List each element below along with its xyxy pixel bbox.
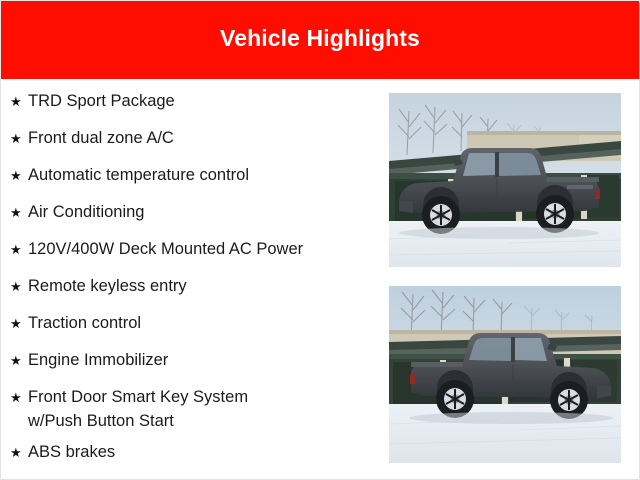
star-bullet-icon: ★ <box>10 89 28 114</box>
list-item: ★ Traction control <box>1 311 379 348</box>
star-bullet-icon: ★ <box>10 348 28 373</box>
star-bullet-icon: ★ <box>10 385 28 410</box>
feature-label: Automatic temperature control <box>28 163 379 187</box>
star-bullet-icon: ★ <box>10 440 28 465</box>
star-bullet-icon: ★ <box>10 126 28 151</box>
header-banner: Vehicle Highlights <box>0 0 640 79</box>
list-item: ★ Front dual zone A/C <box>1 126 379 163</box>
feature-label: 120V/400W Deck Mounted AC Power <box>28 237 379 261</box>
list-item: ★ Front Door Smart Key System w/Push But… <box>1 385 379 440</box>
star-bullet-icon: ★ <box>10 274 28 299</box>
list-item: ★ 120V/400W Deck Mounted AC Power <box>1 237 379 274</box>
list-item: ★ ABS brakes <box>1 440 379 477</box>
vehicle-photo-passenger-side-image <box>389 286 621 463</box>
vehicle-features-list: ★ TRD Sport Package ★ Front dual zone A/… <box>1 80 379 480</box>
list-item: ★ Air Conditioning <box>1 200 379 237</box>
list-item: ★ Remote keyless entry <box>1 274 379 311</box>
feature-label: Traction control <box>28 311 379 335</box>
vehicle-highlights-card: Vehicle Highlights ★ TRD Sport Package ★… <box>0 0 640 480</box>
vehicle-photo-driver-side <box>389 93 621 267</box>
feature-label: Front dual zone A/C <box>28 126 379 150</box>
star-bullet-icon: ★ <box>10 163 28 188</box>
vehicle-photo-passenger-side <box>389 286 621 463</box>
feature-label: Engine Immobilizer <box>28 348 379 372</box>
star-bullet-icon: ★ <box>10 311 28 336</box>
vehicle-photo-driver-side-image <box>389 93 621 267</box>
feature-label: Remote keyless entry <box>28 274 379 298</box>
feature-label: Front Door Smart Key System w/Push Butto… <box>28 385 379 433</box>
feature-label: ABS brakes <box>28 440 379 464</box>
feature-label: Air Conditioning <box>28 200 379 224</box>
list-item: ★ Engine Immobilizer <box>1 348 379 385</box>
list-item: ★ TRD Sport Package <box>1 89 379 126</box>
page-title: Vehicle Highlights <box>220 27 420 52</box>
star-bullet-icon: ★ <box>10 200 28 225</box>
star-bullet-icon: ★ <box>10 237 28 262</box>
list-item: ★ Automatic temperature control <box>1 163 379 200</box>
feature-label: TRD Sport Package <box>28 89 379 113</box>
